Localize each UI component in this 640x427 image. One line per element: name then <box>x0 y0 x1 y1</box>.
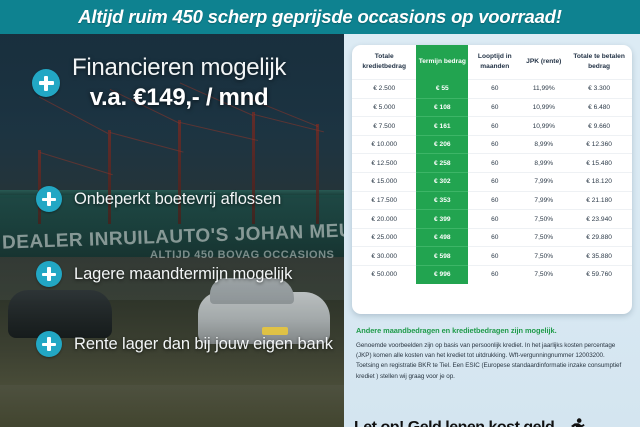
plus-circle-icon <box>36 331 62 357</box>
rates-panel: Totale kredietbedrag Termijn bedrag Loop… <box>344 34 640 427</box>
header-duration: Looptijd in maanden <box>468 45 521 80</box>
cell-apr: 7,50% <box>521 210 566 229</box>
disclaimer-block: Andere maandbedragen en kredietbedragen … <box>356 326 628 382</box>
cell-term-amount: € 598 <box>416 247 468 266</box>
cell-total-payable: € 59.760 <box>566 266 632 284</box>
hero-line-1: Financieren mogelijk <box>72 54 286 82</box>
table-row: € 50.000€ 996607,50%€ 59.760 <box>352 266 632 284</box>
benefit-item-3: Rente lager dan bij jouw eigen bank <box>36 331 333 357</box>
cell-apr: 8,99% <box>521 154 566 173</box>
disclaimer-title: Andere maandbedragen en kredietbedragen … <box>356 326 628 335</box>
cell-apr: 8,99% <box>521 135 566 154</box>
cell-duration: 60 <box>468 210 521 229</box>
cell-apr: 7,50% <box>521 266 566 284</box>
plus-circle-icon <box>36 261 62 287</box>
table-row: € 10.000€ 206608,99%€ 12.360 <box>352 135 632 154</box>
cell-total-payable: € 23.940 <box>566 210 632 229</box>
cell-total-payable: € 3.300 <box>566 80 632 99</box>
cell-duration: 60 <box>468 173 521 192</box>
cell-total-credit: € 20.000 <box>352 210 416 229</box>
cell-total-credit: € 7.500 <box>352 117 416 136</box>
cell-term-amount: € 302 <box>416 173 468 192</box>
cell-duration: 60 <box>468 247 521 266</box>
cell-apr: 10,99% <box>521 98 566 117</box>
cell-term-amount: € 498 <box>416 228 468 247</box>
cell-duration: 60 <box>468 228 521 247</box>
cell-total-credit: € 5.000 <box>352 98 416 117</box>
table-row: € 5.000€ 1086010,99%€ 6.480 <box>352 98 632 117</box>
cell-total-credit: € 2.500 <box>352 80 416 99</box>
headline-text: Altijd ruim 450 scherp geprijsde occasio… <box>78 6 562 28</box>
cell-term-amount: € 258 <box>416 154 468 173</box>
rates-table: Totale kredietbedrag Termijn bedrag Loop… <box>352 45 632 284</box>
table-row: € 25.000€ 498607,50%€ 29.880 <box>352 228 632 247</box>
cell-total-credit: € 17.500 <box>352 191 416 210</box>
benefit-item-2: Lagere maandtermijn mogelijk <box>36 261 292 287</box>
cell-term-amount: € 55 <box>416 80 468 99</box>
cell-total-credit: € 25.000 <box>352 228 416 247</box>
cell-duration: 60 <box>468 117 521 136</box>
cell-term-amount: € 161 <box>416 117 468 136</box>
afm-running-man-icon <box>559 418 585 427</box>
legal-warning-text: Let op! Geld lenen kost geld <box>354 419 554 427</box>
cell-duration: 60 <box>468 80 521 99</box>
benefit-item-1: Onbeperkt boetevrij aflossen <box>36 186 281 212</box>
running-man-glyph <box>570 418 585 427</box>
cell-total-payable: € 35.880 <box>566 247 632 266</box>
header-total-payable: Totale te betalen bedrag <box>566 45 632 80</box>
cell-total-payable: € 12.360 <box>566 135 632 154</box>
benefits-list: Financieren mogelijk v.a. €149,- / mnd O… <box>0 34 345 427</box>
cell-term-amount: € 996 <box>416 266 468 284</box>
headline-banner: Altijd ruim 450 scherp geprijsde occasio… <box>0 0 640 34</box>
benefit-label: Rente lager dan bij jouw eigen bank <box>74 335 333 354</box>
cell-duration: 60 <box>468 191 521 210</box>
cell-total-credit: € 30.000 <box>352 247 416 266</box>
header-total-credit: Totale kredietbedrag <box>352 45 416 80</box>
cell-total-payable: € 15.480 <box>566 154 632 173</box>
cell-total-payable: € 18.120 <box>566 173 632 192</box>
cell-total-credit: € 50.000 <box>352 266 416 284</box>
cell-apr: 7,50% <box>521 247 566 266</box>
table-row: € 30.000€ 598607,50%€ 35.880 <box>352 247 632 266</box>
cell-total-credit: € 15.000 <box>352 173 416 192</box>
cell-duration: 60 <box>468 154 521 173</box>
table-header-row: Totale kredietbedrag Termijn bedrag Loop… <box>352 45 632 80</box>
benefit-label: Onbeperkt boetevrij aflossen <box>74 190 281 209</box>
cell-total-credit: € 12.500 <box>352 154 416 173</box>
table-row: € 7.500€ 1616010,99%€ 9.660 <box>352 117 632 136</box>
cell-total-payable: € 29.880 <box>566 228 632 247</box>
cell-term-amount: € 108 <box>416 98 468 117</box>
hero-line-2: v.a. €149,- / mnd <box>72 84 286 112</box>
cell-total-credit: € 10.000 <box>352 135 416 154</box>
cell-duration: 60 <box>468 135 521 154</box>
rates-card: Totale kredietbedrag Termijn bedrag Loop… <box>352 45 632 314</box>
plus-circle-icon <box>36 186 62 212</box>
cell-duration: 60 <box>468 98 521 117</box>
table-row: € 15.000€ 302607,99%€ 18.120 <box>352 173 632 192</box>
disclaimer-body: Genoemde voorbeelden zijn op basis van p… <box>356 341 628 382</box>
cell-total-payable: € 9.660 <box>566 117 632 136</box>
cell-term-amount: € 206 <box>416 135 468 154</box>
cell-apr: 7,50% <box>521 228 566 247</box>
plus-circle-icon <box>32 69 60 97</box>
benefit-label: Lagere maandtermijn mogelijk <box>74 265 292 284</box>
cell-apr: 7,99% <box>521 173 566 192</box>
cell-term-amount: € 353 <box>416 191 468 210</box>
benefit-hero: Financieren mogelijk v.a. €149,- / mnd <box>32 54 286 112</box>
table-row: € 17.500€ 353607,99%€ 21.180 <box>352 191 632 210</box>
cell-total-payable: € 6.480 <box>566 98 632 117</box>
table-row: € 12.500€ 258608,99%€ 15.480 <box>352 154 632 173</box>
cell-total-payable: € 21.180 <box>566 191 632 210</box>
table-row: € 20.000€ 399607,50%€ 23.940 <box>352 210 632 229</box>
legal-warning: Let op! Geld lenen kost geld <box>354 418 634 427</box>
cell-apr: 10,99% <box>521 117 566 136</box>
table-row: € 2.500€ 556011,99%€ 3.300 <box>352 80 632 99</box>
cell-term-amount: € 399 <box>416 210 468 229</box>
cell-apr: 11,99% <box>521 80 566 99</box>
header-term-amount: Termijn bedrag <box>416 45 468 80</box>
header-apr: JPK (rente) <box>521 45 566 80</box>
cell-apr: 7,99% <box>521 191 566 210</box>
cell-duration: 60 <box>468 266 521 284</box>
advertisement-banner: DEALER INRUILAUTO'S JOHAN MEURE ALTIJD 4… <box>0 0 640 427</box>
